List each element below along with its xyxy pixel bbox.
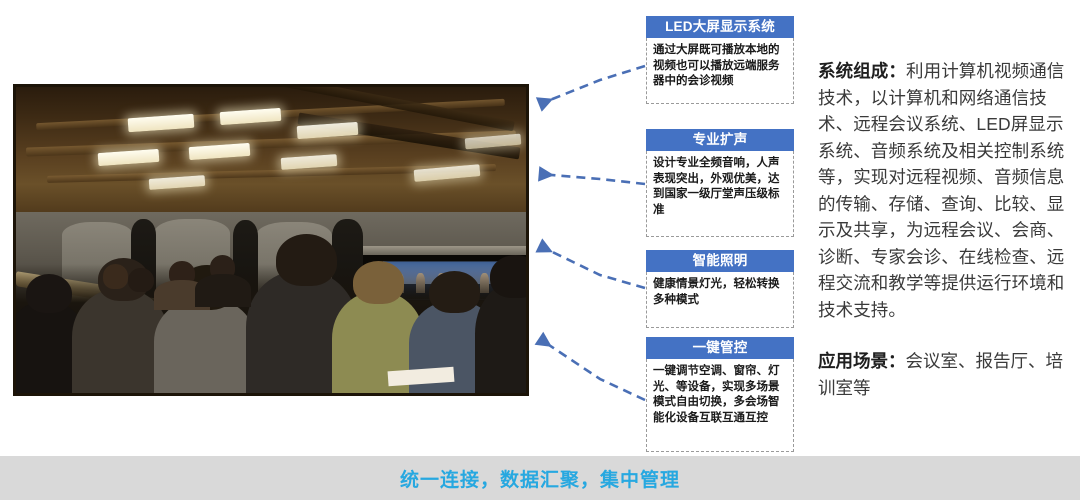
card-body-text: 设计专业全频音响，人声表现突出，外观优美，达到国家一级厅堂声压级标准 — [646, 151, 794, 237]
audience-person — [490, 255, 529, 298]
card-title: 一键管控 — [646, 337, 794, 359]
card-title: 专业扩声 — [646, 129, 794, 151]
card-body-text: 健康情景灯光，轻松转换多种模式 — [646, 272, 794, 328]
seated-person — [128, 268, 154, 292]
seated-person — [195, 274, 251, 308]
audience-person — [429, 271, 480, 314]
card-title: LED大屏显示系统 — [646, 16, 794, 38]
system-composition-body: 利用计算机视频通信技术，以计算机和网络通信技术、远程会议系统、LED屏显示系统、… — [818, 61, 1064, 320]
feature-card-led-display[interactable]: LED大屏显示系统 通过大屏既可播放本地的视频也可以播放远端服务器中的会诊视频 — [646, 16, 794, 104]
system-composition-paragraph: 系统组成：利用计算机视频通信技术，以计算机和网络通信技术、远程会议系统、LED屏… — [818, 58, 1070, 333]
arrow-to-pro-audio — [540, 174, 645, 184]
wall-shelf — [363, 246, 526, 255]
card-body-text: 通过大屏既可播放本地的视频也可以播放远端服务器中的会诊视频 — [646, 38, 794, 104]
audience-person — [276, 234, 337, 286]
feature-card-smart-lighting[interactable]: 智能照明 健康情景灯光，轻松转换多种模式 — [646, 250, 794, 328]
feature-card-pro-audio[interactable]: 专业扩声 设计专业全频音响，人声表现突出，外观优美，达到国家一级厅堂声压级标准 — [646, 129, 794, 237]
application-scenario-label: 应用场景： — [818, 351, 906, 371]
arrow-to-one-key-control — [540, 339, 645, 400]
audience-person — [26, 274, 72, 314]
seated-person — [103, 264, 129, 288]
bottom-banner-text: 统一连接，数据汇聚，集中管理 — [400, 465, 680, 492]
conference-room-photo — [13, 84, 529, 396]
card-body-text: 一键调节空调、窗帘、灯光、等设备，实现多场景模式自由切换，多会场智能化设备互联互… — [646, 359, 794, 452]
card-title: 智能照明 — [646, 250, 794, 272]
slide-canvas: LED大屏显示系统 通过大屏既可播放本地的视频也可以播放远端服务器中的会诊视频 … — [0, 0, 1080, 500]
audience-person — [154, 298, 256, 393]
system-composition-label: 系统组成： — [818, 61, 906, 81]
system-composition-text: 系统组成：利用计算机视频通信技术，以计算机和网络通信技术、远程会议系统、LED屏… — [818, 58, 1070, 323]
arrow-to-led-display — [540, 66, 645, 104]
audience-person — [353, 261, 404, 304]
application-scenario-paragraph: 应用场景：会议室、报告厅、培训室等 — [818, 348, 1070, 401]
feature-card-one-key-control[interactable]: 一键管控 一键调节空调、窗帘、灯光、等设备，实现多场景模式自由切换，多会场智能化… — [646, 337, 794, 452]
bottom-banner: 统一连接，数据汇聚，集中管理 — [0, 456, 1080, 500]
arrow-to-smart-lighting — [540, 246, 645, 288]
